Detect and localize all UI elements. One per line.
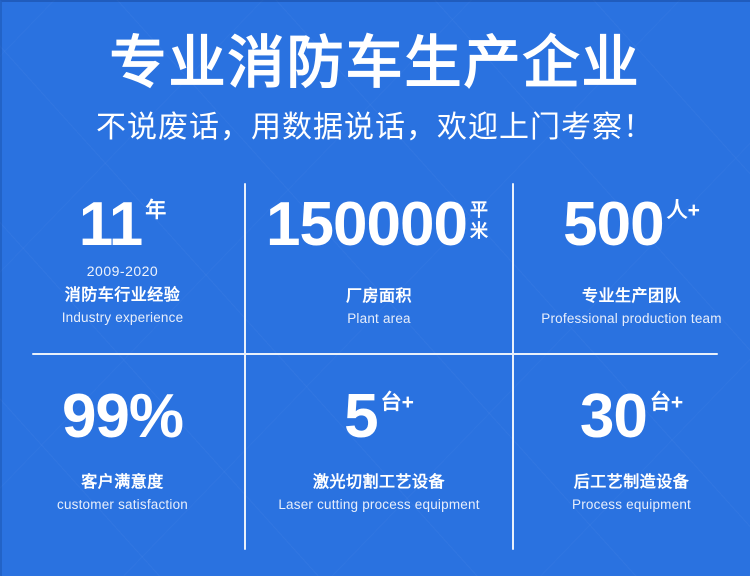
stat-label-en: Process equipment — [572, 496, 691, 514]
grid-divider-horizontal — [32, 353, 718, 355]
stat-unit: 年 — [145, 194, 166, 222]
stat-value-line: 150000 平米 — [266, 194, 492, 256]
stat-unit: 台+ — [381, 386, 414, 414]
stat-label-en: customer satisfaction — [57, 496, 188, 514]
stat-value-line: 30 台+ — [580, 386, 683, 448]
stat-cell-process-equipment: 30 台+ 后工艺制造设备 Process equipment — [513, 354, 750, 558]
stat-value: 99% — [62, 386, 183, 448]
stat-label-cn: 后工艺制造设备 — [574, 472, 690, 494]
stat-value-line: 500 人+ — [563, 194, 700, 256]
stat-cell-industry-experience: 11 年 2009-2020 消防车行业经验 Industry experien… — [0, 176, 245, 354]
grid-divider-vertical-left — [244, 183, 246, 550]
stat-value: 500 — [563, 194, 663, 256]
stat-value: 11 — [79, 194, 143, 256]
page-subtitle: 不说废话，用数据说话，欢迎上门考察！ — [0, 96, 750, 147]
stat-label-en: Professional production team — [541, 310, 721, 328]
stat-label-cn: 消防车行业经验 — [65, 285, 181, 307]
stat-value-line: 99% — [62, 386, 183, 448]
stat-value-line: 11 年 — [79, 194, 167, 256]
stat-label-cn: 客户满意度 — [81, 472, 164, 494]
stat-cell-plant-area: 150000 平米 厂房面积 Plant area — [245, 176, 513, 354]
page-title: 专业消防车生产企业 — [0, 0, 750, 96]
stat-cell-production-team: 500 人+ 专业生产团队 Professional production te… — [513, 176, 750, 354]
stat-value: 30 — [580, 386, 647, 448]
stat-unit: 人+ — [667, 194, 700, 222]
stat-unit: 平米 — [470, 194, 492, 242]
stats-grid: 11 年 2009-2020 消防车行业经验 Industry experien… — [0, 176, 750, 558]
stat-label-en: Plant area — [347, 310, 411, 328]
stat-label-cn: 厂房面积 — [346, 286, 412, 308]
stat-value: 5 — [344, 386, 377, 448]
stat-label-en: Laser cutting process equipment — [278, 496, 479, 514]
stat-cell-customer-satisfaction: 99% 客户满意度 customer satisfaction — [0, 354, 245, 558]
stat-note: 2009-2020 — [87, 262, 158, 280]
stat-label-cn: 激光切割工艺设备 — [313, 472, 445, 494]
stat-value-line: 5 台+ — [344, 386, 414, 448]
stat-label-en: Industry experience — [62, 309, 184, 327]
stat-cell-laser-cutting-equipment: 5 台+ 激光切割工艺设备 Laser cutting process equi… — [245, 354, 513, 558]
stat-value: 150000 — [266, 194, 467, 256]
company-stats-banner: 专业消防车生产企业 不说废话，用数据说话，欢迎上门考察！ 11 年 2009-2… — [0, 0, 750, 576]
grid-divider-vertical-right — [512, 183, 514, 550]
banner-header: 专业消防车生产企业 不说废话，用数据说话，欢迎上门考察！ — [0, 0, 750, 147]
stat-label-cn: 专业生产团队 — [582, 286, 681, 308]
stat-unit: 台+ — [650, 386, 683, 414]
